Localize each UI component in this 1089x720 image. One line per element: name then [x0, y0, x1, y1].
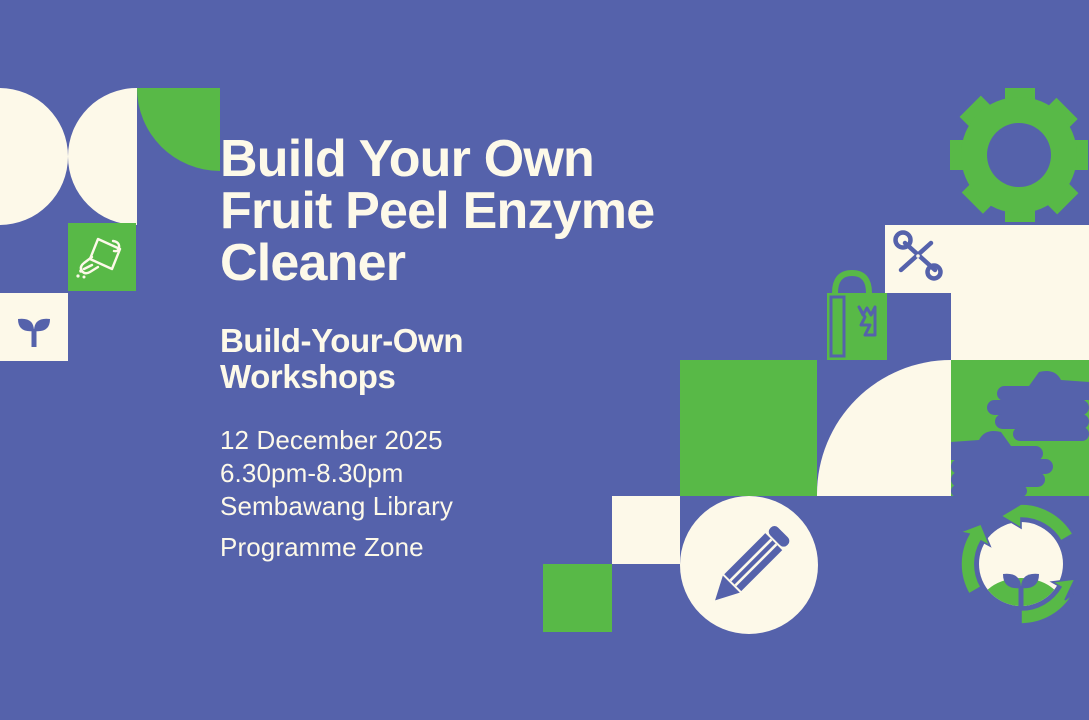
event-subtitle: Build-Your-Own Workshops [220, 323, 740, 396]
handshake-icon [951, 360, 1089, 496]
shopping-bag-shape [817, 265, 887, 360]
handshake-tile [951, 360, 1089, 496]
event-time-rest: 30pm-8.30pm [242, 458, 404, 488]
venue-type: Library [373, 491, 453, 521]
event-title: Build Your Own Fruit Peel Enzyme Cleaner [220, 133, 740, 289]
event-details: 12 December 2025 6.30pm-8.30pm Sembawang… [220, 424, 740, 565]
event-room: Programme Zone [220, 531, 740, 564]
shopping-bag-icon [817, 265, 887, 360]
half-circle-cream-left [0, 88, 68, 225]
recycle-plant-shape [957, 500, 1085, 628]
scissors-tile [885, 225, 951, 293]
square-green-lower [543, 564, 612, 632]
sprout-icon [0, 293, 68, 361]
quarter-circle-green [137, 88, 220, 171]
gear-shape [950, 88, 1088, 222]
poster-content: Build Your Own Fruit Peel Enzyme Cleaner… [220, 133, 740, 565]
event-time: 6.30pm-8.30pm [220, 457, 740, 490]
recycle-plant-icon [957, 500, 1085, 628]
sprout-tile [0, 293, 68, 361]
event-date: 12 December 2025 [220, 424, 740, 457]
event-venue: Sembawang Library [220, 490, 740, 523]
scissors-icon [885, 225, 951, 293]
venue-name: Sembawang [220, 491, 373, 521]
watering-can-tile [68, 223, 136, 291]
event-time-prefix: 6. [220, 458, 242, 488]
half-circle-cream-right [68, 88, 137, 225]
watering-can-icon [68, 223, 136, 291]
rectangle-cream [951, 225, 1089, 361]
event-poster: Build Your Own Fruit Peel Enzyme Cleaner… [0, 0, 1089, 720]
quarter-circle-cream [817, 360, 951, 496]
gear-icon [950, 88, 1088, 222]
